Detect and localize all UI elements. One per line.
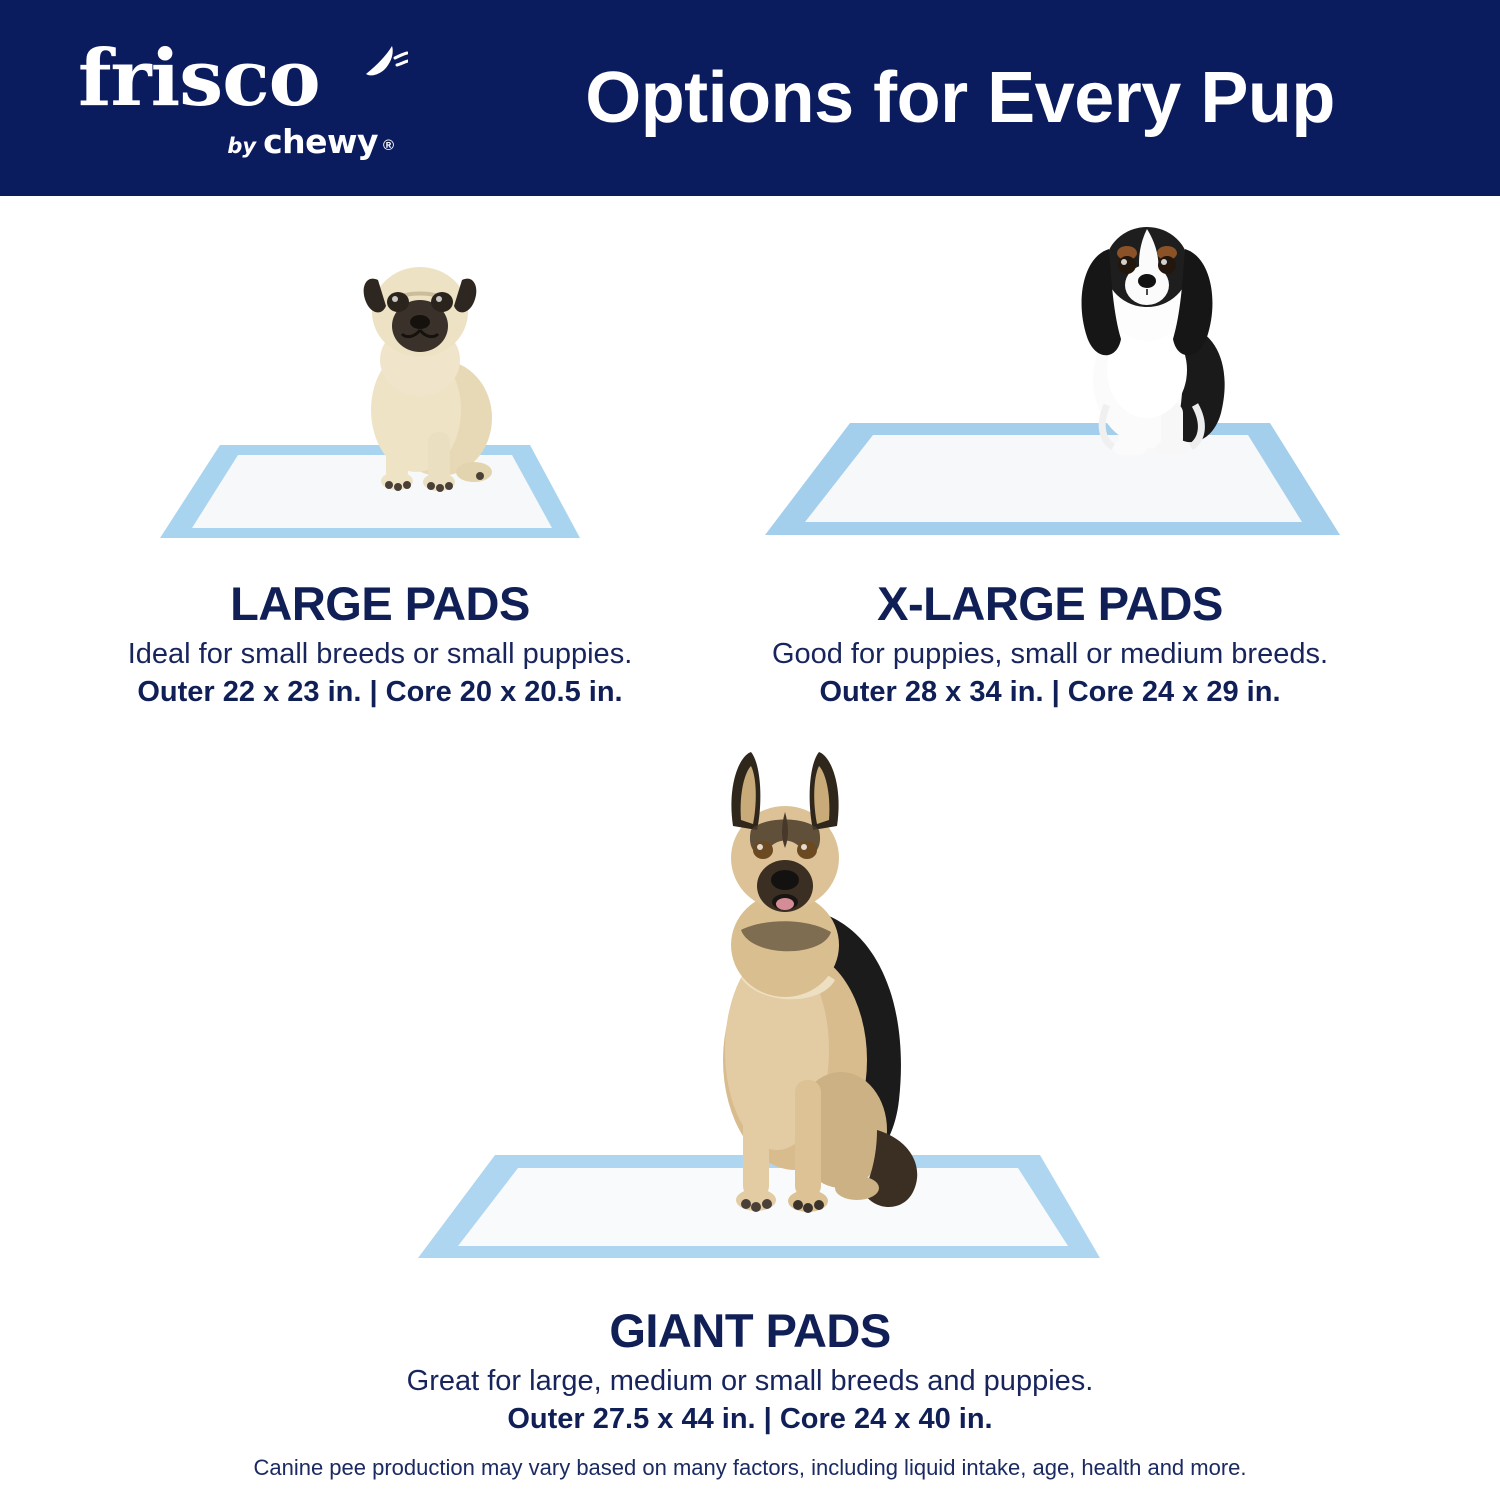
registered-trademark-icon: ® xyxy=(383,137,394,154)
header-bar: frisco ® by chewy Options for Every Pup xyxy=(0,0,1500,196)
page-title: Options for Every Pup xyxy=(420,0,1500,196)
logo-by-label: by xyxy=(227,134,256,158)
large-pads-dimensions: Outer 22 x 23 in. | Core 20 x 20.5 in. xyxy=(40,674,720,710)
giant-pads-scene xyxy=(400,730,1120,1290)
x-large-pads-dimensions: Outer 28 x 34 in. | Core 24 x 29 in. xyxy=(700,674,1400,710)
logo-chewy-label: chewy xyxy=(263,122,378,161)
logo-byline: by chewy xyxy=(227,122,378,161)
x-large-pads-title: X-LARGE PADS xyxy=(700,578,1400,630)
giant-pads-caption: GIANT PADS Great for large, medium or sm… xyxy=(300,1305,1200,1437)
x-large-pads-description: Good for puppies, small or medium breeds… xyxy=(700,636,1400,672)
x-large-pads-scene xyxy=(740,205,1380,550)
x-large-pads-caption: X-LARGE PADS Good for puppies, small or … xyxy=(700,578,1400,710)
pug-dog-image xyxy=(328,240,528,495)
swoosh-icon xyxy=(362,44,408,84)
disclaimer-text: Canine pee production may vary based on … xyxy=(0,1455,1500,1481)
large-pads-caption: LARGE PADS Ideal for small breeds or sma… xyxy=(40,578,720,710)
giant-pads-dimensions: Outer 27.5 x 44 in. | Core 24 x 40 in. xyxy=(300,1401,1200,1437)
large-pads-title: LARGE PADS xyxy=(40,578,720,630)
frisco-logo: frisco ® by chewy xyxy=(78,38,378,162)
cavalier-spaniel-dog-image xyxy=(1035,205,1285,455)
german-shepherd-dog-image xyxy=(645,730,955,1240)
logo-wordmark: frisco xyxy=(78,38,320,120)
giant-pads-title: GIANT PADS xyxy=(300,1305,1200,1357)
large-pads-scene xyxy=(130,240,610,550)
giant-pads-description: Great for large, medium or small breeds … xyxy=(300,1363,1200,1399)
large-pads-description: Ideal for small breeds or small puppies. xyxy=(40,636,720,672)
